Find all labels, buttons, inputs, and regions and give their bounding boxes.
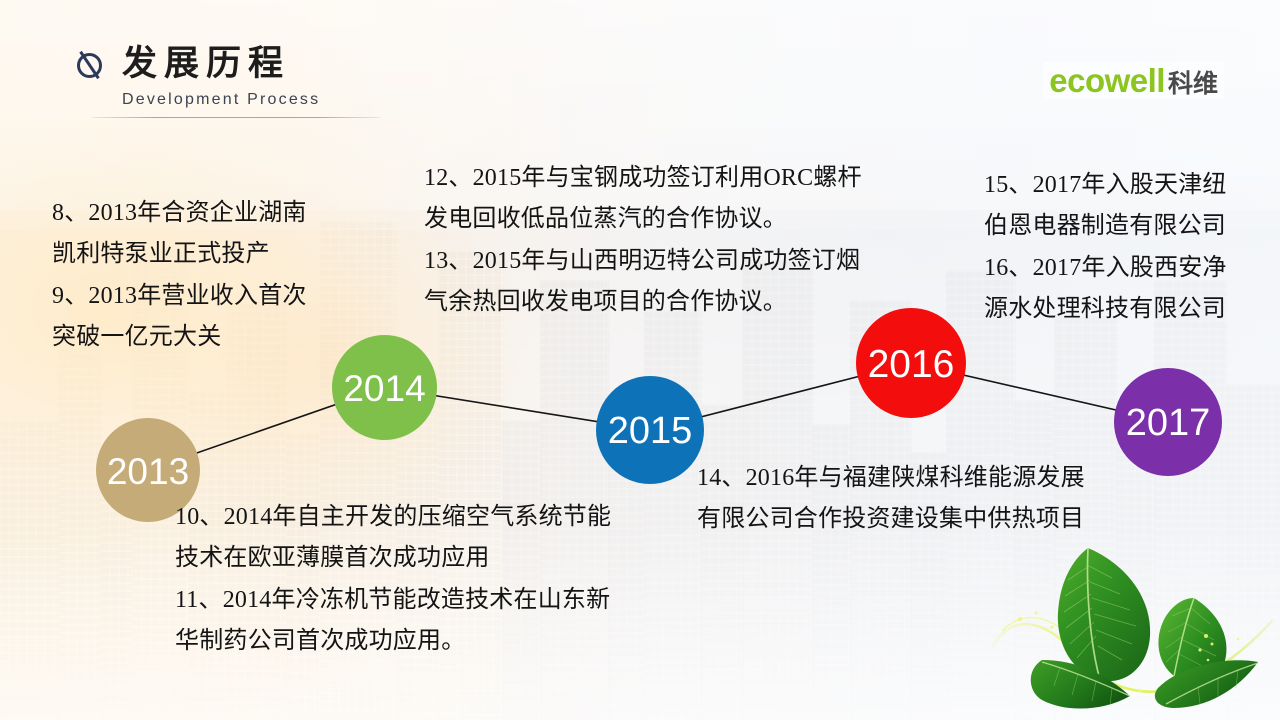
timeline-node-label: 2014	[343, 370, 425, 407]
timeline-node-label: 2016	[868, 345, 955, 384]
slide-canvas: 发展历程 Development Process ecowell 科维 2013…	[0, 0, 1280, 720]
green-leaves-icon	[980, 540, 1270, 720]
milestone-text-2015: 12、2015年与宝钢成功签订利用ORC螺杆 发电回收低品位蒸汽的合作协议。 1…	[424, 158, 944, 323]
circle-slash-icon	[74, 47, 108, 81]
logo-wordmark: ecowell	[1049, 64, 1165, 97]
page-title: 发展历程	[122, 46, 290, 81]
timeline-node-label: 2015	[608, 412, 693, 450]
timeline-node-2016[interactable]: 2016	[856, 308, 966, 418]
milestone-text-2017: 15、2017年入股天津纽 伯恩电器制造有限公司 16、2017年入股西安净 源…	[984, 165, 1274, 330]
milestone-text-2013: 8、2013年合资企业湖南 凯利特泵业正式投产 9、2013年营业收入首次 突破…	[52, 193, 392, 358]
title-divider	[92, 117, 380, 118]
timeline-node-label: 2017	[1126, 404, 1211, 442]
timeline-node-label: 2013	[107, 453, 189, 490]
milestone-text-2016: 14、2016年与福建陕煤科维能源发展 有限公司合作投资建设集中供热项目	[697, 458, 1167, 541]
page-subtitle: Development Process	[122, 91, 380, 109]
company-logo: ecowell 科维	[1043, 62, 1224, 99]
page-header: 发展历程 Development Process	[74, 46, 380, 118]
milestone-text-2014: 10、2014年自主开发的压缩空气系统节能 技术在欧亚薄膜首次成功应用 11、2…	[175, 497, 715, 662]
timeline-node-2015[interactable]: 2015	[596, 376, 704, 484]
logo-wordmark-cn: 科维	[1168, 72, 1218, 97]
